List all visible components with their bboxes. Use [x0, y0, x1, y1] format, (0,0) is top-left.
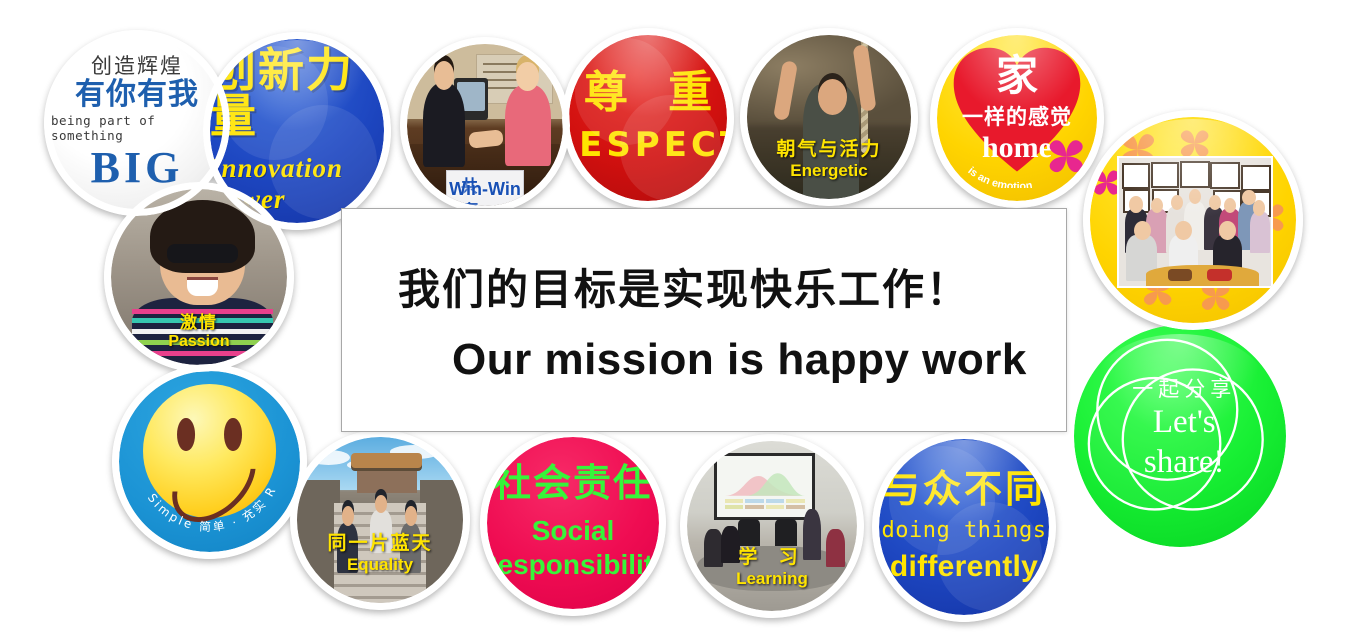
big-line-3: being part of something — [51, 113, 223, 143]
share-en-1: Let's — [1132, 403, 1236, 443]
mission-line-en: Our mission is happy work — [452, 335, 1066, 385]
great-wall-photo — [297, 437, 463, 603]
badge-big-face: 创造辉煌 有你有我 being part of something BIG — [51, 37, 223, 209]
badge-equality[interactable]: 同一片蓝天 Equality — [290, 430, 470, 610]
energetic-cn: 朝气与活力 — [747, 134, 911, 161]
badge-social-face: 社会责任 Social Responsibility — [487, 437, 659, 609]
big-line-1: 创造辉煌 — [91, 55, 183, 78]
mission-banner: 我们的目标是实现快乐工作！ Our mission is happy work — [341, 208, 1067, 432]
badge-share-face: 一起分享 Let's share! — [1074, 325, 1286, 547]
yinyang-decor — [879, 439, 1049, 615]
badge-energetic-face: 朝气与活力 Energetic — [747, 35, 911, 199]
social-cn: 社会责任 — [493, 465, 653, 503]
flower-icon — [1039, 128, 1093, 184]
badge-passion-face: 激情 Passion — [111, 189, 287, 365]
passion-caption: 激情 Passion — [111, 308, 287, 351]
energetic-caption: 朝气与活力 Energetic — [747, 134, 911, 181]
badge-respect[interactable]: 尊 重 RESPECT — [562, 28, 734, 208]
winwin-caption: Win-Win — [407, 179, 563, 200]
social-en-2: Responsibility — [487, 549, 659, 581]
badge-social-responsibility[interactable]: 社会责任 Social Responsibility — [480, 430, 666, 616]
badge-equality-face: 同一片蓝天 Equality — [297, 437, 463, 603]
badge-learning[interactable]: 学 习 Learning — [680, 434, 864, 618]
home-cn-2: 一样的感觉 — [937, 101, 1097, 131]
yinyang-decor — [569, 35, 727, 201]
badge-doing-things-differently[interactable]: 与众不同 doing things differently — [872, 432, 1056, 622]
badge-simple-rich-smiley[interactable]: Simple 简单 · 充实 Rich — [112, 364, 307, 559]
family-group-photo — [1117, 156, 1273, 288]
passion-cn: 激情 — [111, 308, 287, 333]
equality-cn: 同一片蓝天 — [297, 528, 463, 555]
energetic-en: Energetic — [747, 161, 911, 181]
social-en-1: Social — [532, 515, 614, 547]
badge-different-face: 与众不同 doing things differently — [879, 439, 1049, 615]
badge-family-photo[interactable] — [1083, 110, 1303, 330]
badge-energetic[interactable]: 朝气与活力 Energetic — [740, 28, 918, 206]
badge-family-face — [1090, 117, 1296, 323]
mission-line-cn: 我们的目标是实现快乐工作！ — [398, 256, 1066, 317]
home-cn-1: 家 — [937, 55, 1097, 97]
badge-winwin-face: 共 赢 Win-Win — [407, 44, 563, 206]
svg-text:is an emotion: is an emotion — [965, 164, 1033, 187]
values-poster: 创造辉煌 有你有我 being part of something BIG 创新… — [0, 0, 1366, 635]
badge-respect-face: 尊 重 RESPECT — [569, 35, 727, 201]
equality-en: Equality — [297, 555, 463, 575]
passion-en: Passion — [111, 333, 287, 351]
winwin-en: Win-Win — [407, 179, 563, 200]
share-en-2: share! — [1132, 443, 1236, 483]
equality-caption: 同一片蓝天 Equality — [297, 528, 463, 575]
share-caption: 一起分享 Let's share! — [1132, 377, 1236, 482]
learning-en: Learning — [687, 569, 857, 589]
badge-lets-share[interactable]: 一起分享 Let's share! — [1074, 325, 1286, 547]
badge-smiley-face: Simple 简单 · 充实 Rich — [119, 371, 300, 552]
badge-win-win[interactable]: 共 赢 Win-Win — [400, 37, 570, 213]
learning-cn: 学 习 — [687, 542, 857, 569]
learning-caption: 学 习 Learning — [687, 542, 857, 589]
svg-text:Simple 简单 · 充实 Rich: Simple 简单 · 充实 Rich — [119, 371, 280, 534]
badge-home-is-an-emotion[interactable]: 家 一样的感觉 home is an emotion — [930, 28, 1104, 208]
smiley-arc-text: Simple 简单 · 充实 Rich — [119, 371, 300, 552]
big-line-2: 有你有我 — [75, 78, 199, 113]
badge-passion[interactable]: 激情 Passion — [104, 182, 294, 372]
share-cn: 一起分享 — [1132, 377, 1236, 403]
big-line-4: BIG — [91, 145, 184, 191]
badge-home-face: 家 一样的感觉 home is an emotion — [937, 35, 1097, 201]
badge-learning-face: 学 习 Learning — [687, 441, 857, 611]
